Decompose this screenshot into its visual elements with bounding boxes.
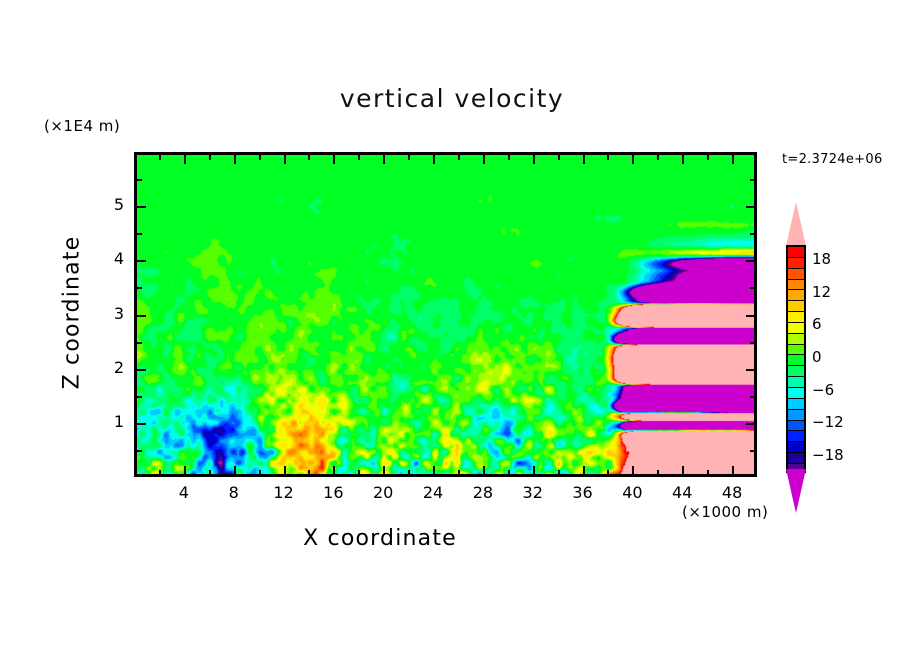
y-tick-label: 4 <box>98 249 124 268</box>
x-tick-label: 44 <box>662 483 702 502</box>
x-axis-minor-tick-top <box>358 153 360 160</box>
y-axis-major-tick <box>135 369 146 371</box>
chart-canvas: vertical velocity (×1E4 m) (×1000 m) X c… <box>0 0 904 654</box>
x-axis-major-tick-top <box>732 153 734 164</box>
y-axis-minor-tick-right <box>750 179 757 181</box>
x-axis-major-tick-top <box>483 153 485 164</box>
colorbar-segment <box>788 258 804 269</box>
colorbar-segment <box>788 442 804 453</box>
x-axis-major-tick <box>184 466 186 477</box>
x-axis-minor-tick <box>308 470 310 477</box>
x-unit-label: (×1000 m) <box>682 503 768 521</box>
x-axis-minor-tick <box>707 470 709 477</box>
time-annotation: t=2.3724e+06 <box>782 152 883 167</box>
y-tick-label: 5 <box>98 195 124 214</box>
x-tick-label: 48 <box>712 483 752 502</box>
x-axis-major-tick <box>483 466 485 477</box>
y-axis-major-tick-right <box>746 369 757 371</box>
x-axis-major-tick <box>234 466 236 477</box>
x-axis-minor-tick-top <box>558 153 560 160</box>
y-tick-label: 1 <box>98 412 124 431</box>
y-axis-major-tick <box>135 260 146 262</box>
x-axis-major-tick-top <box>533 153 535 164</box>
colorbar-segment <box>788 334 804 345</box>
x-tick-label: 4 <box>164 483 204 502</box>
x-axis-major-tick <box>383 466 385 477</box>
x-axis-minor-tick-top <box>458 153 460 160</box>
chart-title: vertical velocity <box>0 84 904 113</box>
colorbar-tick-label: −18 <box>812 446 844 464</box>
colorbar: 181260−6−12−18 <box>780 200 806 515</box>
colorbar-segment <box>788 301 804 312</box>
colorbar-segment <box>788 410 804 421</box>
y-axis-minor-tick-right <box>750 396 757 398</box>
x-axis-minor-tick <box>209 470 211 477</box>
z-unit-label: (×1E4 m) <box>44 117 120 135</box>
colorbar-segment <box>788 388 804 399</box>
y-axis-major-tick <box>135 206 146 208</box>
colorbar-tick-label: −6 <box>812 381 834 399</box>
colorbar-segment <box>788 290 804 301</box>
colorbar-tick-label: 18 <box>812 250 831 268</box>
x-axis-major-tick-top <box>583 153 585 164</box>
y-axis-minor-tick <box>135 179 142 181</box>
y-axis-minor-tick-right <box>750 450 757 452</box>
x-axis-major-tick-top <box>682 153 684 164</box>
x-axis-major-tick-top <box>184 153 186 164</box>
x-axis-major-tick-top <box>234 153 236 164</box>
x-axis-minor-tick-top <box>508 153 510 160</box>
y-axis-major-tick-right <box>746 423 757 425</box>
y-axis-major-tick-right <box>746 260 757 262</box>
x-axis-minor-tick <box>159 470 161 477</box>
colorbar-gradient <box>786 245 806 473</box>
x-axis-minor-tick-top <box>657 153 659 160</box>
y-axis-minor-tick <box>135 450 142 452</box>
colorbar-tick-label: −12 <box>812 413 844 431</box>
y-axis-minor-tick <box>135 233 142 235</box>
colorbar-segment <box>788 377 804 388</box>
y-axis-minor-tick <box>135 287 142 289</box>
colorbar-segment <box>788 453 804 464</box>
x-axis-minor-tick-top <box>308 153 310 160</box>
x-axis-minor-tick-top <box>607 153 609 160</box>
colorbar-segment <box>788 312 804 323</box>
x-axis-minor-tick-top <box>209 153 211 160</box>
x-tick-label: 32 <box>513 483 553 502</box>
x-tick-label: 36 <box>563 483 603 502</box>
colorbar-tick-label: 12 <box>812 283 831 301</box>
x-tick-label: 24 <box>413 483 453 502</box>
colorbar-segment <box>788 269 804 280</box>
vertical-velocity-field <box>137 155 754 474</box>
colorbar-segment <box>788 323 804 334</box>
x-axis-major-tick-top <box>632 153 634 164</box>
y-axis-major-tick <box>135 423 146 425</box>
colorbar-segment <box>788 355 804 366</box>
x-axis-minor-tick-top <box>159 153 161 160</box>
x-tick-label: 16 <box>313 483 353 502</box>
x-axis-major-tick-top <box>383 153 385 164</box>
x-axis-minor-tick <box>458 470 460 477</box>
x-axis-major-tick <box>533 466 535 477</box>
x-tick-label: 8 <box>214 483 254 502</box>
y-axis-minor-tick-right <box>750 342 757 344</box>
colorbar-tick-label: 0 <box>812 348 822 366</box>
x-axis-major-tick <box>732 466 734 477</box>
x-axis-major-tick <box>284 466 286 477</box>
x-tick-label: 12 <box>264 483 304 502</box>
y-axis-minor-tick <box>135 342 142 344</box>
y-axis-major-tick-right <box>746 206 757 208</box>
x-axis-major-tick <box>433 466 435 477</box>
x-axis-major-tick-top <box>284 153 286 164</box>
x-tick-label: 40 <box>612 483 652 502</box>
colorbar-segment <box>788 345 804 356</box>
y-axis-minor-tick-right <box>750 233 757 235</box>
x-axis-minor-tick <box>508 470 510 477</box>
colorbar-segment <box>788 421 804 432</box>
x-axis-minor-tick <box>607 470 609 477</box>
colorbar-segment <box>788 280 804 291</box>
colorbar-segment <box>788 366 804 377</box>
x-axis-minor-tick <box>358 470 360 477</box>
x-tick-label: 20 <box>363 483 403 502</box>
colorbar-tick-label: 6 <box>812 315 822 333</box>
y-axis-major-tick <box>135 315 146 317</box>
x-axis-minor-tick-top <box>259 153 261 160</box>
x-axis-major-tick <box>682 466 684 477</box>
x-axis-minor-tick-top <box>707 153 709 160</box>
y-axis-title: Z coordinate <box>60 223 85 403</box>
x-axis-major-tick <box>632 466 634 477</box>
y-axis-major-tick-right <box>746 315 757 317</box>
colorbar-segment <box>788 431 804 442</box>
x-axis-major-tick-top <box>433 153 435 164</box>
x-axis-minor-tick <box>558 470 560 477</box>
x-axis-minor-tick <box>259 470 261 477</box>
y-tick-label: 2 <box>98 358 124 377</box>
x-axis-minor-tick <box>657 470 659 477</box>
y-tick-label: 3 <box>98 304 124 323</box>
x-axis-title: X coordinate <box>0 526 760 551</box>
x-tick-label: 28 <box>463 483 503 502</box>
colorbar-segment <box>788 399 804 410</box>
x-axis-major-tick <box>583 466 585 477</box>
x-axis-minor-tick-top <box>408 153 410 160</box>
x-axis-major-tick-top <box>333 153 335 164</box>
x-axis-minor-tick <box>408 470 410 477</box>
y-axis-minor-tick-right <box>750 287 757 289</box>
x-axis-major-tick <box>333 466 335 477</box>
colorbar-segment <box>788 247 804 258</box>
y-axis-minor-tick <box>135 396 142 398</box>
contour-plot-area <box>134 152 757 477</box>
